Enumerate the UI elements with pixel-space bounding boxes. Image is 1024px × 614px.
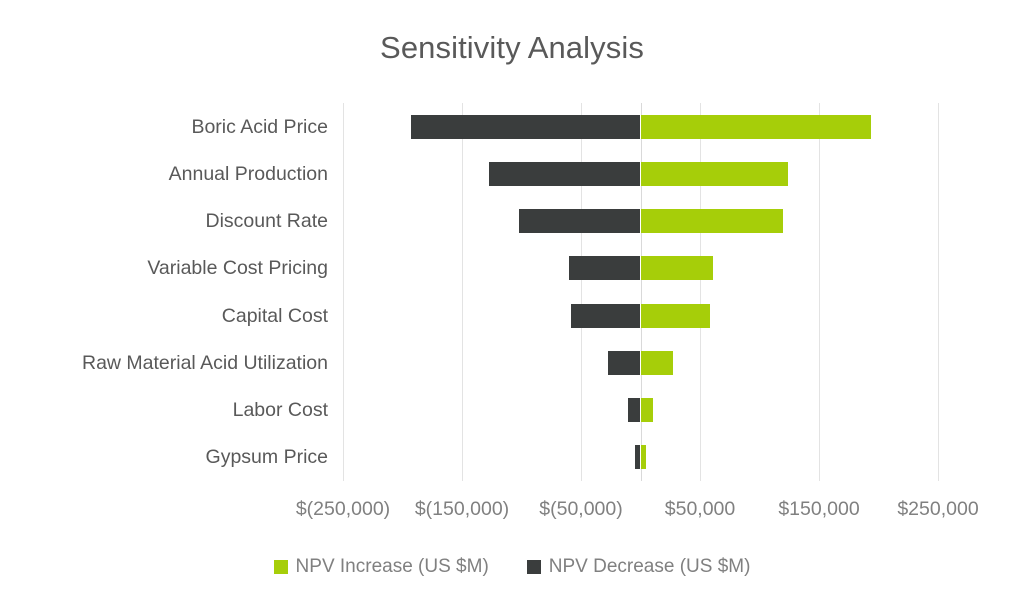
y-axis-label: Annual Production bbox=[0, 162, 328, 186]
x-axis-tick-label: $(50,000) bbox=[539, 498, 622, 521]
bar-npv-decrease[interactable] bbox=[571, 304, 641, 328]
y-axis-category-labels: Boric Acid PriceAnnual ProductionDiscoun… bbox=[0, 103, 328, 481]
x-axis-tick-label: $50,000 bbox=[665, 498, 736, 521]
bar-npv-decrease[interactable] bbox=[411, 115, 640, 139]
bar-npv-increase[interactable] bbox=[641, 115, 871, 139]
x-axis-tick-label: $(150,000) bbox=[415, 498, 509, 521]
chart-legend: NPV Increase (US $M)NPV Decrease (US $M) bbox=[0, 556, 1024, 578]
bar-row bbox=[343, 198, 938, 245]
bar-npv-increase[interactable] bbox=[641, 162, 788, 186]
bar-npv-increase[interactable] bbox=[641, 304, 710, 328]
legend-swatch-icon bbox=[274, 560, 288, 574]
bar-npv-decrease[interactable] bbox=[608, 351, 640, 375]
legend-item[interactable]: NPV Decrease (US $M) bbox=[527, 556, 751, 578]
sensitivity-analysis-chart: Sensitivity Analysis Boric Acid PriceAnn… bbox=[0, 0, 1024, 614]
bar-row bbox=[343, 387, 938, 434]
x-axis-tick-label: $(250,000) bbox=[296, 498, 390, 521]
bar-row bbox=[343, 434, 938, 481]
legend-label: NPV Decrease (US $M) bbox=[549, 556, 751, 578]
bar-npv-increase[interactable] bbox=[641, 351, 673, 375]
x-axis-tick-labels: $(250,000)$(150,000)$(50,000)$50,000$150… bbox=[0, 498, 1024, 530]
bar-row bbox=[343, 292, 938, 339]
bar-row bbox=[343, 103, 938, 150]
bar-npv-decrease[interactable] bbox=[489, 162, 640, 186]
legend-label: NPV Increase (US $M) bbox=[296, 556, 489, 578]
bar-npv-decrease[interactable] bbox=[519, 209, 641, 233]
bar-npv-decrease[interactable] bbox=[569, 256, 640, 280]
y-axis-label: Boric Acid Price bbox=[0, 115, 328, 139]
y-axis-label: Variable Cost Pricing bbox=[0, 256, 328, 280]
bar-row bbox=[343, 150, 938, 197]
bar-row bbox=[343, 339, 938, 386]
y-axis-label: Labor Cost bbox=[0, 398, 328, 422]
y-axis-label: Gypsum Price bbox=[0, 445, 328, 469]
bar-npv-decrease[interactable] bbox=[628, 398, 640, 422]
gridline-x-5 bbox=[938, 103, 939, 481]
plot-area bbox=[343, 103, 938, 481]
bar-npv-increase[interactable] bbox=[641, 398, 654, 422]
legend-swatch-icon bbox=[527, 560, 541, 574]
chart-title: Sensitivity Analysis bbox=[0, 30, 1024, 66]
y-axis-label: Raw Material Acid Utilization bbox=[0, 351, 328, 375]
x-axis-tick-label: $150,000 bbox=[778, 498, 859, 521]
legend-item[interactable]: NPV Increase (US $M) bbox=[274, 556, 489, 578]
y-axis-label: Capital Cost bbox=[0, 304, 328, 328]
bar-row bbox=[343, 245, 938, 292]
bar-npv-increase[interactable] bbox=[641, 445, 647, 469]
bar-npv-increase[interactable] bbox=[641, 209, 784, 233]
y-axis-label: Discount Rate bbox=[0, 209, 328, 233]
bar-npv-increase[interactable] bbox=[641, 256, 714, 280]
x-axis-tick-label: $250,000 bbox=[897, 498, 978, 521]
